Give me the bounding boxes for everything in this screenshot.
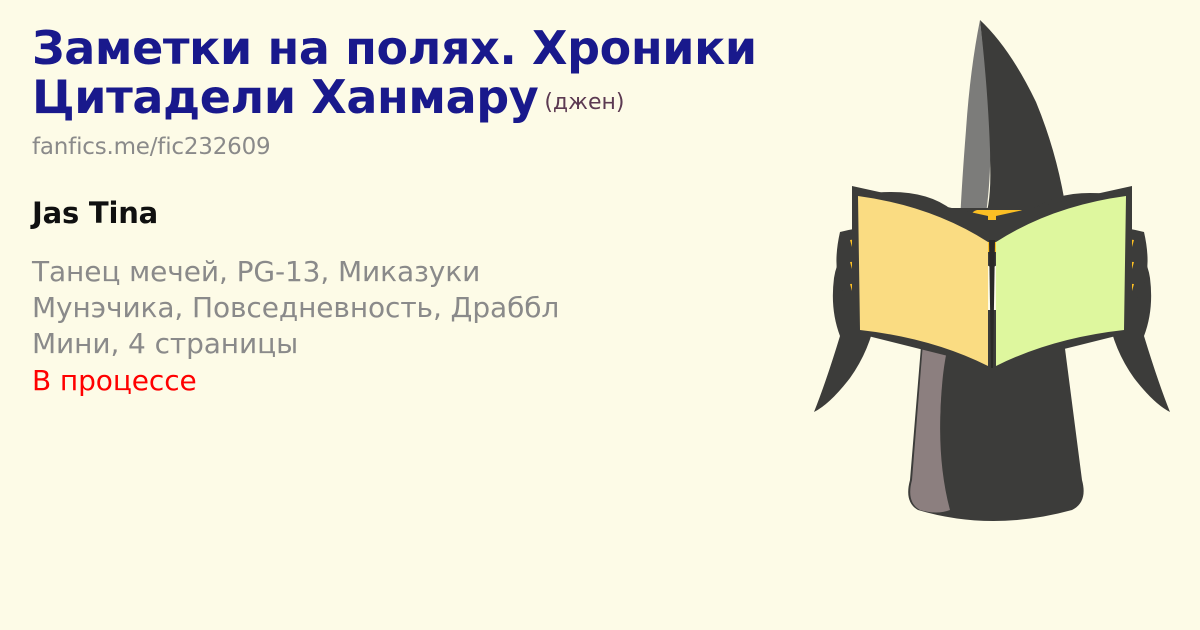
metadata-block: Танец мечей, PG-13, Миказуки Мунэчика, П… bbox=[32, 254, 792, 400]
source-url[interactable]: fanfics.me/fic232609 bbox=[32, 134, 792, 160]
wizard-reading-book-icon bbox=[792, 10, 1192, 620]
title-text: Заметки на полях. Хроники Цитадели Ханма… bbox=[32, 21, 757, 124]
share-card: Заметки на полях. Хроники Цитадели Ханма… bbox=[0, 0, 1200, 630]
category-tag: (джен) bbox=[544, 90, 624, 115]
metadata-line: Мунэчика, Повседневность, Драббл bbox=[32, 290, 792, 326]
page-title: Заметки на полях. Хроники Цитадели Ханма… bbox=[32, 24, 792, 122]
metadata-line: Танец мечей, PG-13, Миказуки bbox=[32, 254, 792, 290]
hat-cone bbox=[980, 20, 1068, 224]
metadata-line-size: Мини, 4 страницы bbox=[32, 326, 792, 362]
text-column: Заметки на полях. Хроники Цитадели Ханма… bbox=[32, 24, 792, 399]
status-badge: В процессе bbox=[32, 363, 792, 399]
author-name[interactable]: Jas Tina bbox=[32, 196, 792, 230]
